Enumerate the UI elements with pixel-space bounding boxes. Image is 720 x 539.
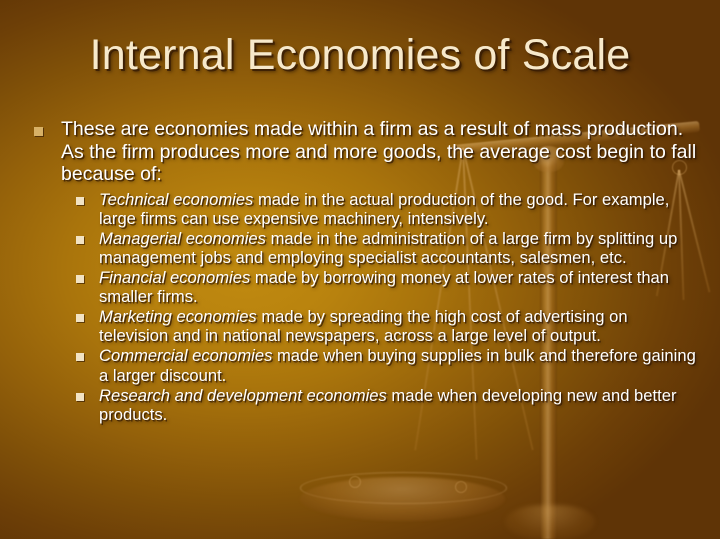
square-bullet-icon bbox=[76, 353, 84, 361]
square-bullet-icon bbox=[34, 127, 43, 136]
square-bullet-icon bbox=[76, 393, 84, 401]
sub-bullet-lead: Commercial economies bbox=[99, 346, 272, 365]
sub-bullet-lead: Marketing economies bbox=[99, 307, 257, 326]
slide-body: These are economies made within a firm a… bbox=[0, 118, 720, 425]
sub-bullet-text: Financial economies made by borrowing mo… bbox=[99, 268, 698, 306]
sub-bullet-item-research-development: Research and development economies made … bbox=[0, 386, 720, 424]
sub-bullet-text: Marketing economies made by spreading th… bbox=[99, 307, 698, 345]
sub-bullet-text: Research and development economies made … bbox=[99, 386, 698, 424]
sub-bullet-item-commercial: Commercial economies made when buying su… bbox=[0, 346, 720, 384]
slide: Internal Economies of Scale These are ec… bbox=[0, 0, 720, 539]
sub-bullet-lead: Research and development economies bbox=[99, 386, 387, 405]
sub-bullet-item-technical: Technical economies made in the actual p… bbox=[0, 190, 720, 228]
sub-bullet-text: Commercial economies made when buying su… bbox=[99, 346, 698, 384]
sub-bullet-text: Managerial economies made in the adminis… bbox=[99, 229, 698, 267]
square-bullet-icon bbox=[76, 197, 84, 205]
sub-bullet-lead: Technical economies bbox=[99, 190, 253, 209]
slide-title: Internal Economies of Scale bbox=[0, 33, 720, 79]
scale-pan-rim bbox=[300, 472, 507, 504]
scale-pan-hook-right bbox=[455, 481, 467, 493]
sub-bullet-lead: Financial economies bbox=[99, 268, 250, 287]
sub-bullet-item-managerial: Managerial economies made in the adminis… bbox=[0, 229, 720, 267]
sub-bullet-text: Technical economies made in the actual p… bbox=[99, 190, 698, 228]
bullet-item-main: These are economies made within a firm a… bbox=[0, 118, 720, 186]
sub-bullet-item-financial: Financial economies made by borrowing mo… bbox=[0, 268, 720, 306]
bullet-text: These are economies made within a firm a… bbox=[61, 118, 698, 186]
scale-pan-left bbox=[300, 477, 505, 521]
scale-base bbox=[505, 505, 595, 539]
square-bullet-icon bbox=[76, 236, 84, 244]
sub-bullet-lead: Managerial economies bbox=[99, 229, 266, 248]
sub-bullet-item-marketing: Marketing economies made by spreading th… bbox=[0, 307, 720, 345]
scale-pan-hook-left bbox=[349, 476, 361, 488]
square-bullet-icon bbox=[76, 275, 84, 283]
square-bullet-icon bbox=[76, 314, 84, 322]
